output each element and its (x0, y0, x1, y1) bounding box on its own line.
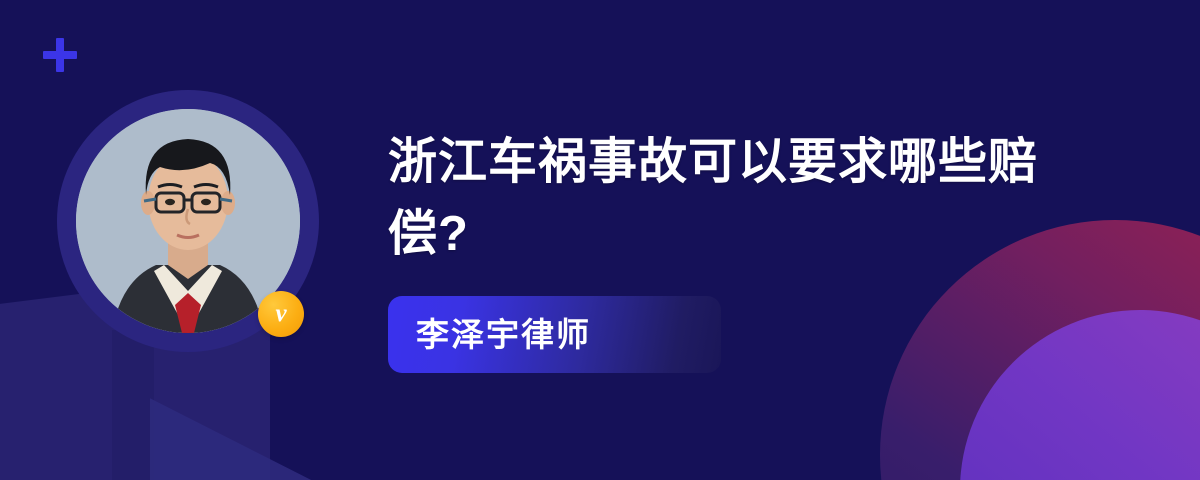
decorative-bar-left (112, 330, 154, 480)
author-name-label: 李泽宇律师 (416, 316, 591, 353)
plus-icon-vertical-bar (56, 38, 64, 72)
verified-badge-icon: v (258, 291, 304, 337)
lawyer-qa-banner: v 浙江车祸事故可以要求哪些赔偿? 李泽宇律师 (0, 0, 1200, 480)
avatar[interactable]: v (57, 90, 319, 352)
plus-icon (43, 38, 77, 72)
verified-check-mark: v (275, 301, 286, 326)
author-name-badge[interactable]: 李泽宇律师 (388, 296, 721, 373)
page-title: 浙江车祸事故可以要求哪些赔偿? (388, 126, 1088, 270)
content-column: 浙江车祸事故可以要求哪些赔偿? 李泽宇律师 (388, 126, 1088, 373)
